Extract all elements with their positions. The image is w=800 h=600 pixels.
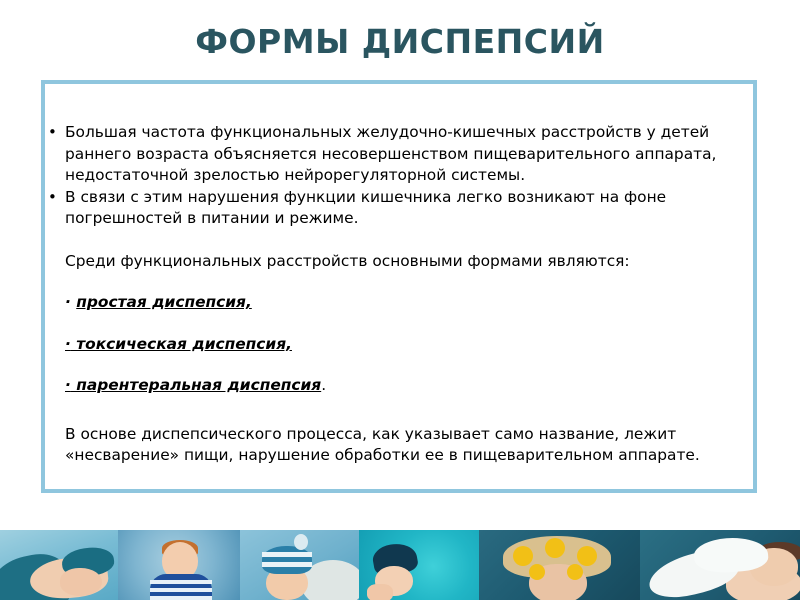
content-body: Большая частота функциональных желудочно… xyxy=(45,122,757,522)
flower-shape xyxy=(567,564,583,580)
photo-sitting-baby-striped-shirt xyxy=(118,530,240,600)
bullet-text-2: В связи с этим нарушения функции кишечни… xyxy=(65,188,666,228)
flower-shape xyxy=(577,546,597,566)
bullet-list: Большая частота функциональных желудочно… xyxy=(45,122,757,230)
form-item-parenteral: · парентеральная диспепсия. xyxy=(45,375,757,397)
form-label-3: парентеральная диспепсия xyxy=(71,376,321,394)
photo-baby-yellow-flower-crown xyxy=(479,530,640,600)
photo-sleeping-newborn-blue-blanket xyxy=(0,530,118,600)
hat-stripe xyxy=(262,562,312,567)
closing-paragraph: В основе диспепсического процесса, как у… xyxy=(45,424,757,467)
baby-hand-shape xyxy=(367,584,393,600)
baby-face-shape xyxy=(60,568,102,596)
shirt-stripe xyxy=(150,588,212,592)
form-item-toxic: · токсическая диспепсия, xyxy=(45,334,757,356)
hat-knob-shape xyxy=(294,534,308,550)
form-marker-1: · xyxy=(65,293,71,311)
list-item: В связи с этим нарушения функции кишечни… xyxy=(45,187,757,230)
form-label-2: токсическая диспепсия, xyxy=(71,335,292,353)
form-item-simple: · простая диспепсия, xyxy=(45,292,757,314)
bullet-text-1: Большая частота функциональных желудочно… xyxy=(65,123,716,184)
shirt-stripe xyxy=(150,596,212,600)
photo-strip xyxy=(0,530,800,600)
shirt-stripe xyxy=(150,580,212,584)
knit-hat-shape xyxy=(262,546,312,574)
form-tail-3: . xyxy=(321,376,326,394)
slide: ФОРМЫ ДИСПЕПСИЙ Большая частота функцион… xyxy=(0,0,800,600)
photo-baby-dark-blue-hat-teal xyxy=(359,530,479,600)
form-label-1: простая диспепсия, xyxy=(76,293,252,311)
photo-baby-striped-knit-hat xyxy=(240,530,359,600)
flower-shape xyxy=(529,564,545,580)
page-title: ФОРМЫ ДИСПЕПСИЙ xyxy=(0,22,800,62)
list-item: Большая частота функциональных желудочно… xyxy=(45,122,757,187)
hat-stripe xyxy=(262,552,312,557)
intro-paragraph: Среди функциональных расстройств основны… xyxy=(45,251,757,273)
photo-sleeping-angel-baby-wings xyxy=(640,530,800,600)
flower-shape xyxy=(545,538,565,558)
flower-shape xyxy=(513,546,533,566)
